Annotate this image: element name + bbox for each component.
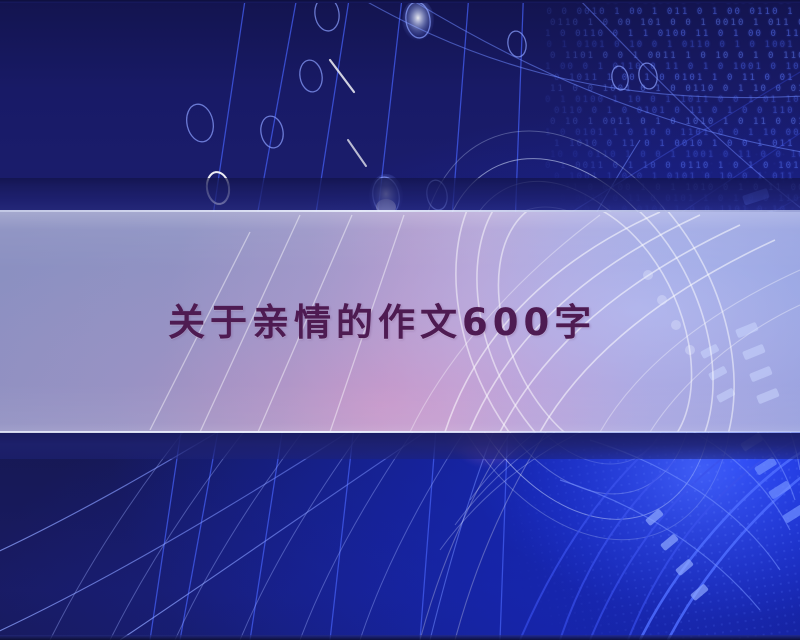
page-title: 关于亲情的作文600字 bbox=[168, 304, 596, 341]
top-edge-strip bbox=[0, 0, 800, 3]
title-container: 关于亲情的作文600字 bbox=[0, 212, 800, 432]
bottom-edge-strip bbox=[0, 635, 800, 640]
slide-canvas: 0 1 000 11 0 0100 1 0 0 1101 0 1010 0 00… bbox=[0, 0, 800, 640]
lower-dark-band bbox=[0, 433, 800, 459]
upper-dark-band bbox=[0, 178, 800, 212]
